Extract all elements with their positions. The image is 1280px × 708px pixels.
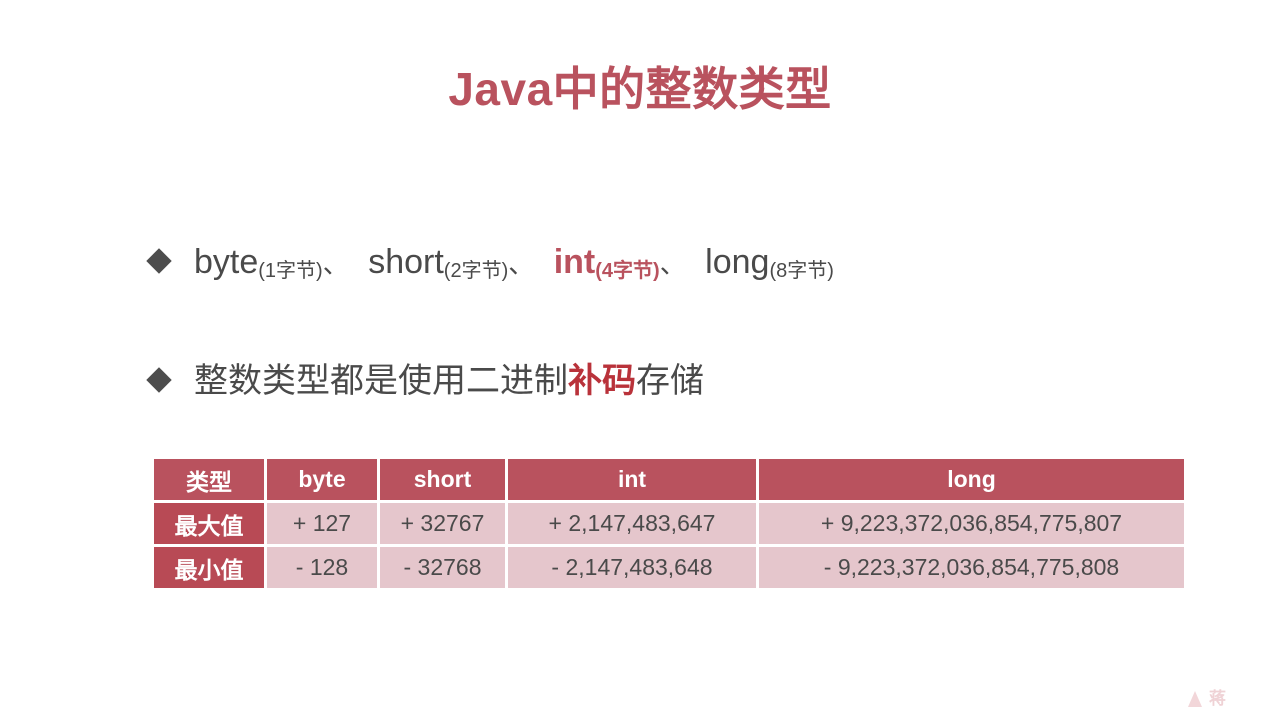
watermark-text: 蒋 xyxy=(1209,690,1227,707)
table-header-long: long xyxy=(759,459,1184,500)
type-int-size: (4字节) xyxy=(595,260,659,282)
table-header-int: int xyxy=(508,459,756,500)
diamond-bullet-icon xyxy=(146,248,171,273)
integer-range-table: 类型 byte short int long 最大值 + 127 + 32767… xyxy=(151,456,1187,591)
type-separator-2: 、 xyxy=(508,249,534,279)
cell-max-short: + 32767 xyxy=(380,503,505,544)
table-header-short: short xyxy=(380,459,505,500)
table-row: 最小值 - 128 - 32768 - 2,147,483,648 - 9,22… xyxy=(154,547,1184,588)
cell-max-byte: + 127 xyxy=(267,503,377,544)
row-label-min: 最小值 xyxy=(154,547,264,588)
cell-max-long: + 9,223,372,036,854,775,807 xyxy=(759,503,1184,544)
diamond-bullet-icon xyxy=(146,367,171,392)
bullet-text-types: byte(1字节)、 short(2字节)、 int(4字节)、 long(8字… xyxy=(194,243,834,282)
cell-max-int: + 2,147,483,647 xyxy=(508,503,756,544)
type-long-name: long xyxy=(705,243,769,281)
watermark-logo: 蒋 xyxy=(1188,690,1227,707)
storage-lead-text: 整数类型都是使用二进制 xyxy=(194,362,568,400)
type-separator-3: 、 xyxy=(660,249,686,279)
table-header-type: 类型 xyxy=(154,459,264,500)
type-byte-name: byte xyxy=(194,243,258,281)
table-header-byte: byte xyxy=(267,459,377,500)
row-label-max: 最大值 xyxy=(154,503,264,544)
type-long-size: (8字节) xyxy=(769,260,833,282)
cell-min-short: - 32768 xyxy=(380,547,505,588)
storage-tail-text: 存储 xyxy=(636,362,704,400)
page-title: Java中的整数类型 xyxy=(0,62,1280,117)
table-row: 最大值 + 127 + 32767 + 2,147,483,647 + 9,22… xyxy=(154,503,1184,544)
cell-min-byte: - 128 xyxy=(267,547,377,588)
type-int-name: int xyxy=(554,243,596,281)
bullet-text-storage: 整数类型都是使用二进制补码存储 xyxy=(194,353,704,402)
bullet-item-storage: 整数类型都是使用二进制补码存储 xyxy=(150,353,704,402)
type-separator-1: 、 xyxy=(323,249,349,279)
type-short-size: (2字节) xyxy=(444,260,508,282)
type-short-name: short xyxy=(368,243,444,281)
table-header-row: 类型 byte short int long xyxy=(154,459,1184,500)
cell-min-long: - 9,223,372,036,854,775,808 xyxy=(759,547,1184,588)
cell-min-int: - 2,147,483,648 xyxy=(508,547,756,588)
type-byte-size: (1字节) xyxy=(258,260,322,282)
bullet-item-types: byte(1字节)、 short(2字节)、 int(4字节)、 long(8字… xyxy=(150,243,834,282)
triangle-mark-icon xyxy=(1188,691,1202,707)
storage-highlight-text: 补码 xyxy=(568,362,636,400)
